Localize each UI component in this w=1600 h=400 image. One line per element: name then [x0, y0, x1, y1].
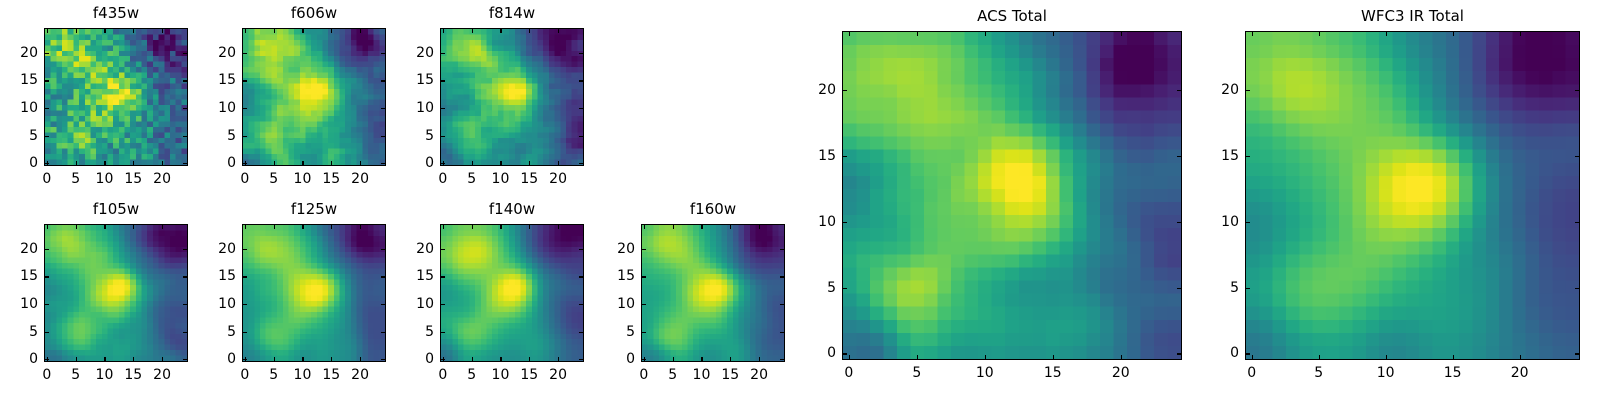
x-tick-mark-top	[360, 224, 361, 229]
y-tick-mark	[440, 359, 445, 360]
x-tick-label: 5	[71, 368, 80, 382]
x-tick-mark-top	[443, 224, 444, 229]
x-tick-mark	[1453, 355, 1454, 360]
y-tick-label: 5	[198, 325, 236, 339]
x-tick-mark	[500, 161, 501, 166]
y-tick-mark-right	[1177, 288, 1182, 289]
x-tick-mark-top	[644, 224, 645, 229]
x-tick-label: 15	[520, 368, 538, 382]
y-tick-mark	[44, 332, 49, 333]
y-tick-label: 20	[396, 242, 434, 256]
y-tick-label: 10	[798, 215, 836, 229]
x-tick-mark	[443, 357, 444, 362]
y-tick-label: 0	[198, 156, 236, 170]
y-tick-label: 15	[597, 269, 635, 283]
y-tick-label: 0	[597, 352, 635, 366]
x-tick-label: 10	[96, 368, 114, 382]
y-tick-label: 5	[396, 325, 434, 339]
x-tick-mark	[162, 357, 163, 362]
y-tick-label: 5	[597, 325, 635, 339]
x-tick-label: 15	[124, 368, 142, 382]
x-tick-label: 15	[124, 172, 142, 186]
y-tick-mark	[842, 156, 847, 157]
y-tick-mark	[242, 136, 247, 137]
y-tick-mark	[842, 222, 847, 223]
x-tick-mark-top	[558, 28, 559, 33]
y-tick-mark-right	[183, 276, 188, 277]
y-tick-mark-right	[1575, 353, 1580, 354]
x-tick-label: 5	[467, 368, 476, 382]
x-tick-mark-top	[500, 224, 501, 229]
y-tick-mark-right	[1177, 222, 1182, 223]
y-tick-mark-right	[579, 304, 584, 305]
x-tick-mark	[331, 357, 332, 362]
panel-f814w: f814w0510152005101520	[0, 0, 1600, 400]
x-tick-mark	[302, 357, 303, 362]
y-tick-mark	[440, 163, 445, 164]
x-tick-mark	[529, 161, 530, 166]
y-tick-mark	[44, 53, 49, 54]
heatmap-axes	[44, 28, 188, 166]
x-tick-label: 5	[668, 368, 677, 382]
y-tick-label: 20	[0, 242, 38, 256]
x-tick-label: 20	[549, 172, 567, 186]
x-tick-mark	[1520, 355, 1521, 360]
y-tick-mark	[44, 276, 49, 277]
y-tick-mark	[440, 53, 445, 54]
x-tick-mark	[162, 161, 163, 166]
y-tick-mark-right	[381, 163, 386, 164]
heatmap-image	[642, 225, 784, 361]
x-tick-mark	[443, 161, 444, 166]
heatmap-image	[45, 225, 187, 361]
y-tick-mark-right	[183, 359, 188, 360]
x-tick-mark	[730, 357, 731, 362]
x-tick-mark-top	[162, 28, 163, 33]
y-tick-mark	[242, 163, 247, 164]
x-tick-mark	[104, 161, 105, 166]
y-tick-mark-right	[1575, 156, 1580, 157]
y-tick-label: 10	[198, 101, 236, 115]
x-tick-mark	[917, 355, 918, 360]
x-tick-label: 10	[294, 368, 312, 382]
panel-title: f160w	[641, 202, 785, 217]
y-tick-label: 10	[198, 297, 236, 311]
x-tick-mark-top	[47, 28, 48, 33]
heatmap-axes	[44, 224, 188, 362]
x-tick-mark	[245, 357, 246, 362]
x-tick-label: 10	[693, 368, 711, 382]
x-tick-mark	[245, 161, 246, 166]
x-tick-mark-top	[47, 224, 48, 229]
y-tick-mark-right	[579, 80, 584, 81]
y-tick-label: 10	[396, 297, 434, 311]
heatmap-image	[441, 29, 583, 165]
x-tick-label: 20	[1112, 366, 1130, 380]
x-tick-label: 20	[351, 368, 369, 382]
y-tick-mark	[641, 359, 646, 360]
y-tick-mark	[842, 288, 847, 289]
y-tick-mark	[242, 332, 247, 333]
y-tick-mark-right	[381, 359, 386, 360]
y-tick-label: 20	[597, 242, 635, 256]
y-tick-mark	[44, 304, 49, 305]
x-tick-mark-top	[1453, 31, 1454, 36]
y-tick-mark-right	[381, 276, 386, 277]
x-tick-mark	[47, 357, 48, 362]
y-tick-mark	[242, 108, 247, 109]
x-tick-mark-top	[472, 28, 473, 33]
x-tick-label: 5	[912, 366, 921, 380]
x-tick-label: 5	[467, 172, 476, 186]
x-tick-mark	[331, 161, 332, 166]
y-tick-label: 5	[1201, 281, 1239, 295]
x-tick-mark	[500, 357, 501, 362]
y-tick-label: 20	[198, 46, 236, 60]
y-tick-mark	[842, 353, 847, 354]
heatmap-image	[441, 225, 583, 361]
x-tick-mark	[701, 357, 702, 362]
y-tick-mark-right	[183, 304, 188, 305]
y-tick-mark-right	[579, 276, 584, 277]
x-tick-mark	[302, 161, 303, 166]
x-tick-mark	[759, 357, 760, 362]
y-tick-mark-right	[381, 332, 386, 333]
x-tick-label: 20	[351, 172, 369, 186]
x-tick-mark-top	[1520, 31, 1521, 36]
y-tick-mark-right	[1575, 90, 1580, 91]
y-tick-mark	[440, 80, 445, 81]
x-tick-mark-top	[104, 224, 105, 229]
x-tick-label: 10	[492, 368, 510, 382]
y-tick-mark	[1245, 288, 1250, 289]
x-tick-mark-top	[302, 28, 303, 33]
y-tick-mark-right	[183, 53, 188, 54]
y-tick-label: 0	[198, 352, 236, 366]
y-tick-mark-right	[1177, 90, 1182, 91]
y-tick-mark	[44, 163, 49, 164]
x-tick-mark-top	[133, 224, 134, 229]
panel-title: f125w	[242, 202, 386, 217]
y-tick-mark	[242, 304, 247, 305]
y-tick-mark-right	[579, 249, 584, 250]
panel-title: f606w	[242, 6, 386, 21]
x-tick-mark-top	[245, 28, 246, 33]
heatmap-image	[843, 32, 1181, 359]
x-tick-mark-top	[76, 28, 77, 33]
x-tick-label: 20	[1511, 366, 1529, 380]
x-tick-mark-top	[331, 28, 332, 33]
panel-wfc3-ir-total: WFC3 IR Total0510152005101520	[0, 0, 1600, 400]
y-tick-mark-right	[183, 332, 188, 333]
x-tick-label: 5	[71, 172, 80, 186]
panel-title: f435w	[44, 6, 188, 21]
y-tick-mark-right	[381, 136, 386, 137]
x-tick-mark	[644, 357, 645, 362]
y-tick-mark	[242, 249, 247, 250]
y-tick-mark	[242, 276, 247, 277]
y-tick-label: 15	[0, 269, 38, 283]
x-tick-mark	[558, 357, 559, 362]
y-tick-mark	[641, 332, 646, 333]
y-tick-label: 15	[396, 73, 434, 87]
x-tick-mark-top	[274, 224, 275, 229]
y-tick-mark	[242, 80, 247, 81]
x-tick-mark	[673, 357, 674, 362]
x-tick-mark-top	[1319, 31, 1320, 36]
x-tick-mark	[1386, 355, 1387, 360]
y-tick-label: 20	[0, 46, 38, 60]
x-tick-mark	[76, 161, 77, 166]
y-tick-mark	[440, 108, 445, 109]
x-tick-mark	[360, 357, 361, 362]
x-tick-mark-top	[162, 224, 163, 229]
x-tick-mark	[558, 161, 559, 166]
x-tick-label: 20	[153, 172, 171, 186]
x-tick-mark	[472, 161, 473, 166]
y-tick-mark-right	[780, 359, 785, 360]
y-tick-mark	[44, 359, 49, 360]
x-tick-mark-top	[104, 28, 105, 33]
panel-acs-total: ACS Total0510152005101520	[0, 0, 1600, 400]
x-tick-mark-top	[443, 28, 444, 33]
x-tick-mark-top	[673, 224, 674, 229]
x-tick-mark-top	[360, 28, 361, 33]
y-tick-label: 20	[396, 46, 434, 60]
x-tick-mark-top	[500, 28, 501, 33]
y-tick-mark-right	[381, 53, 386, 54]
x-tick-mark	[104, 357, 105, 362]
y-tick-mark-right	[183, 249, 188, 250]
x-tick-label: 0	[240, 368, 249, 382]
panel-f125w: f125w0510152005101520	[0, 0, 1600, 400]
x-tick-mark-top	[849, 31, 850, 36]
y-tick-label: 5	[396, 129, 434, 143]
y-tick-mark-right	[579, 53, 584, 54]
y-tick-label: 20	[198, 242, 236, 256]
x-tick-mark-top	[1121, 31, 1122, 36]
y-tick-label: 15	[396, 269, 434, 283]
y-tick-mark	[641, 249, 646, 250]
y-tick-label: 0	[396, 156, 434, 170]
y-tick-mark	[440, 332, 445, 333]
y-tick-label: 10	[597, 297, 635, 311]
y-tick-mark-right	[381, 249, 386, 250]
y-tick-mark-right	[381, 80, 386, 81]
x-tick-mark	[360, 161, 361, 166]
y-tick-mark	[440, 249, 445, 250]
x-tick-mark	[76, 357, 77, 362]
y-tick-label: 10	[0, 101, 38, 115]
y-tick-label: 0	[0, 352, 38, 366]
x-tick-label: 0	[438, 368, 447, 382]
x-tick-mark-top	[274, 28, 275, 33]
y-tick-label: 15	[1201, 149, 1239, 163]
y-tick-mark	[440, 136, 445, 137]
panel-f105w: f105w0510152005101520	[0, 0, 1600, 400]
x-tick-label: 15	[322, 172, 340, 186]
x-tick-label: 15	[322, 368, 340, 382]
panel-f606w: f606w0510152005101520	[0, 0, 1600, 400]
x-tick-label: 15	[721, 368, 739, 382]
heatmap-axes	[1245, 31, 1580, 360]
x-tick-label: 10	[1377, 366, 1395, 380]
y-tick-mark	[641, 276, 646, 277]
y-tick-mark-right	[183, 136, 188, 137]
y-tick-mark-right	[579, 359, 584, 360]
x-tick-mark-top	[1053, 31, 1054, 36]
y-tick-mark	[1245, 90, 1250, 91]
panel-f435w: f435w0510152005101520	[0, 0, 1600, 400]
x-tick-label: 15	[520, 172, 538, 186]
x-tick-label: 5	[1314, 366, 1323, 380]
x-tick-label: 15	[1044, 366, 1062, 380]
x-tick-mark-top	[558, 224, 559, 229]
panel-title: f105w	[44, 202, 188, 217]
heatmap-axes	[641, 224, 785, 362]
y-tick-mark-right	[1575, 222, 1580, 223]
y-tick-mark-right	[780, 276, 785, 277]
y-tick-mark	[1245, 156, 1250, 157]
x-tick-label: 5	[269, 172, 278, 186]
heatmap-axes	[242, 224, 386, 362]
x-tick-mark-top	[917, 31, 918, 36]
x-tick-label: 5	[269, 368, 278, 382]
panel-f140w: f140w0510152005101520	[0, 0, 1600, 400]
x-tick-mark	[47, 161, 48, 166]
y-tick-mark	[440, 304, 445, 305]
x-tick-mark-top	[701, 224, 702, 229]
y-tick-label: 10	[1201, 215, 1239, 229]
x-tick-mark	[472, 357, 473, 362]
y-tick-label: 0	[396, 352, 434, 366]
figure-canvas: f435w0510152005101520f606w05101520051015…	[0, 0, 1600, 400]
y-tick-mark	[440, 276, 445, 277]
x-tick-label: 0	[1247, 366, 1256, 380]
heatmap-axes	[242, 28, 386, 166]
y-tick-mark-right	[579, 163, 584, 164]
x-tick-label: 10	[96, 172, 114, 186]
y-tick-label: 10	[396, 101, 434, 115]
heatmap-image	[243, 29, 385, 165]
heatmap-image	[45, 29, 187, 165]
x-tick-mark	[529, 357, 530, 362]
x-tick-mark-top	[472, 224, 473, 229]
y-tick-label: 5	[0, 325, 38, 339]
y-tick-label: 15	[198, 73, 236, 87]
panel-title: ACS Total	[842, 9, 1182, 24]
y-tick-mark-right	[183, 108, 188, 109]
x-tick-label: 20	[750, 368, 768, 382]
y-tick-label: 20	[1201, 83, 1239, 97]
y-tick-mark-right	[579, 136, 584, 137]
y-tick-mark-right	[780, 332, 785, 333]
x-tick-mark-top	[529, 224, 530, 229]
y-tick-mark	[44, 80, 49, 81]
y-tick-mark-right	[780, 304, 785, 305]
panel-f160w: f160w0510152005101520	[0, 0, 1600, 400]
panel-title: WFC3 IR Total	[1245, 9, 1580, 24]
heatmap-axes	[440, 28, 584, 166]
y-tick-label: 15	[0, 73, 38, 87]
x-tick-label: 0	[42, 368, 51, 382]
x-tick-mark	[133, 161, 134, 166]
y-tick-mark-right	[183, 80, 188, 81]
x-tick-label: 10	[492, 172, 510, 186]
heatmap-image	[243, 225, 385, 361]
x-tick-mark	[133, 357, 134, 362]
x-tick-mark-top	[302, 224, 303, 229]
y-tick-label: 0	[798, 346, 836, 360]
x-tick-mark-top	[133, 28, 134, 33]
x-tick-mark-top	[245, 224, 246, 229]
y-tick-mark	[242, 53, 247, 54]
x-tick-mark-top	[331, 224, 332, 229]
x-tick-mark-top	[529, 28, 530, 33]
x-tick-mark	[274, 161, 275, 166]
x-tick-label: 15	[1444, 366, 1462, 380]
y-tick-mark-right	[1575, 288, 1580, 289]
x-tick-label: 0	[438, 172, 447, 186]
x-tick-mark	[1252, 355, 1253, 360]
y-tick-mark-right	[1177, 156, 1182, 157]
x-tick-mark	[1121, 355, 1122, 360]
heatmap-axes	[440, 224, 584, 362]
panel-title: f140w	[440, 202, 584, 217]
x-tick-label: 0	[240, 172, 249, 186]
y-tick-mark	[44, 136, 49, 137]
x-tick-label: 20	[549, 368, 567, 382]
x-tick-label: 0	[639, 368, 648, 382]
y-tick-label: 0	[1201, 346, 1239, 360]
x-tick-mark-top	[1252, 31, 1253, 36]
y-tick-mark	[641, 304, 646, 305]
y-tick-label: 10	[0, 297, 38, 311]
y-tick-mark-right	[579, 332, 584, 333]
y-tick-mark	[842, 90, 847, 91]
y-tick-mark-right	[183, 163, 188, 164]
y-tick-label: 5	[798, 281, 836, 295]
x-tick-mark	[849, 355, 850, 360]
x-tick-mark-top	[1386, 31, 1387, 36]
x-tick-mark	[1319, 355, 1320, 360]
x-tick-label: 20	[153, 368, 171, 382]
x-tick-mark	[1053, 355, 1054, 360]
x-tick-mark-top	[730, 224, 731, 229]
y-tick-mark	[1245, 353, 1250, 354]
x-tick-mark-top	[76, 224, 77, 229]
x-tick-mark-top	[985, 31, 986, 36]
x-tick-mark	[274, 357, 275, 362]
y-tick-mark	[44, 249, 49, 250]
x-tick-mark-top	[759, 224, 760, 229]
x-tick-mark	[985, 355, 986, 360]
y-tick-mark	[44, 108, 49, 109]
y-tick-label: 5	[198, 129, 236, 143]
y-tick-mark	[1245, 222, 1250, 223]
y-tick-mark-right	[579, 108, 584, 109]
x-tick-label: 0	[844, 366, 853, 380]
y-tick-label: 15	[198, 269, 236, 283]
x-tick-label: 10	[976, 366, 994, 380]
heatmap-axes	[842, 31, 1182, 360]
x-tick-label: 10	[294, 172, 312, 186]
y-tick-mark	[242, 359, 247, 360]
y-tick-label: 20	[798, 83, 836, 97]
y-tick-label: 15	[798, 149, 836, 163]
y-tick-label: 0	[0, 156, 38, 170]
y-tick-label: 5	[0, 129, 38, 143]
